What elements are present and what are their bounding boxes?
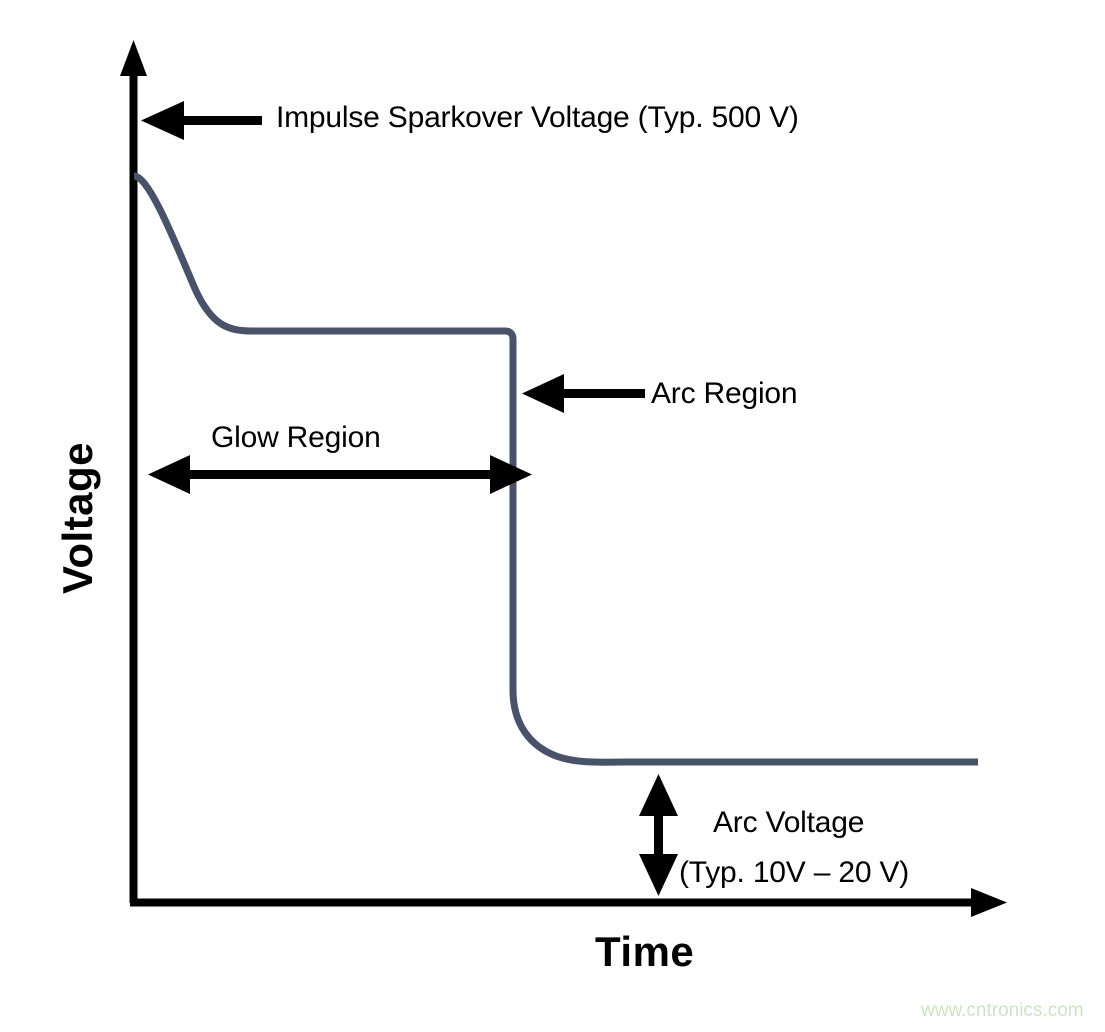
y-axis-arrowhead bbox=[120, 40, 147, 76]
x-axis-label: Time bbox=[595, 928, 694, 976]
arc-voltage-label-line2: (Typ. 10V – 20 V) bbox=[679, 856, 909, 890]
impulse-arrowhead bbox=[141, 101, 184, 140]
impulse-sparkover-label: Impulse Sparkover Voltage (Typ. 500 V) bbox=[276, 101, 799, 135]
diagram-canvas: Impulse Sparkover Voltage (Typ. 500 V) A… bbox=[0, 0, 1105, 1032]
arc-voltage-arrowhead-top bbox=[639, 774, 678, 816]
voltage-curve bbox=[134, 176, 978, 762]
arc-voltage-arrowhead-bottom bbox=[639, 854, 678, 896]
arc-region-arrow bbox=[522, 374, 645, 413]
glow-region-label: Glow Region bbox=[211, 421, 381, 455]
arc-voltage-label-line1: Arc Voltage bbox=[713, 806, 864, 840]
arc-region-arrowhead bbox=[522, 374, 564, 413]
y-axis bbox=[120, 40, 147, 903]
y-axis-label: Voltage bbox=[54, 418, 102, 618]
x-axis-arrowhead bbox=[971, 888, 1007, 917]
glow-region-arrowhead-left bbox=[148, 455, 190, 494]
arc-region-label: Arc Region bbox=[651, 377, 797, 411]
diagram-svg bbox=[0, 0, 1105, 1032]
arc-voltage-arrow bbox=[639, 774, 678, 896]
impulse-sparkover-arrow bbox=[141, 101, 262, 140]
x-axis bbox=[130, 888, 1007, 917]
watermark: www.cntronics.com bbox=[921, 1000, 1084, 1022]
glow-region-arrow bbox=[148, 455, 532, 494]
